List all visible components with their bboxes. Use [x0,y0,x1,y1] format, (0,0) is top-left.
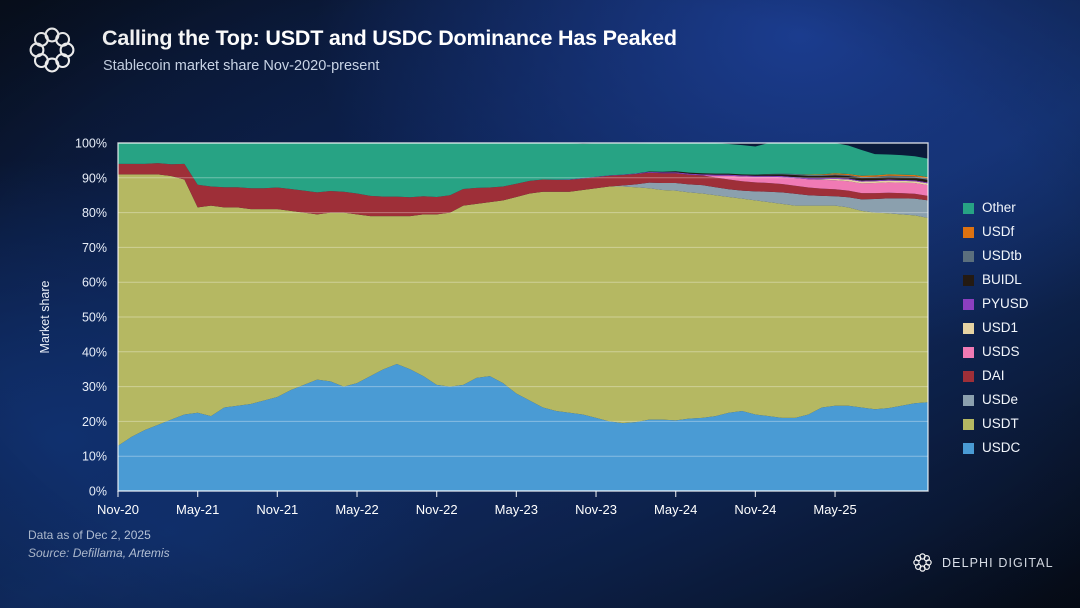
legend-item-usdc[interactable]: USDC [963,436,1075,460]
y-axis-title: Market share [38,280,52,353]
legend-swatch-icon [963,323,974,334]
x-tick-label: May-25 [813,502,856,517]
x-tick-label: Nov-20 [97,502,139,517]
legend-item-label: USDS [982,345,1020,359]
x-tick-label: May-23 [495,502,538,517]
legend-swatch-icon [963,443,974,454]
legend-item-label: BUIDL [982,273,1022,287]
y-tick-label: 60% [82,276,107,290]
y-tick-label: 0% [89,485,107,499]
x-tick-label: Nov-22 [416,502,458,517]
x-tick-label: Nov-21 [256,502,298,517]
page-subtitle: Stablecoin market share Nov-2020-present [103,58,677,74]
header-text: Calling the Top: USDT and USDC Dominance… [102,20,677,74]
chart-canvas: 0%10%20%30%40%50%60%70%80%90%100%Market … [0,118,1080,518]
delphi-knot-logo-icon [26,24,78,76]
brand-lockup: DELPHI DIGITAL [912,552,1054,573]
page-title: Calling the Top: USDT and USDC Dominance… [102,26,677,51]
legend-item-label: DAI [982,369,1005,383]
legend-item-usds[interactable]: USDS [963,340,1075,364]
legend-swatch-icon [963,347,974,358]
delphi-knot-logo-icon [912,552,933,573]
y-tick-label: 50% [82,311,107,325]
x-tick-label: May-22 [335,502,378,517]
legend-swatch-icon [963,395,974,406]
legend-item-usde[interactable]: USDe [963,388,1075,412]
header: Calling the Top: USDT and USDC Dominance… [26,20,926,90]
legend-item-dai[interactable]: DAI [963,364,1075,388]
legend-swatch-icon [963,251,974,262]
legend-item-label: USDC [982,441,1020,455]
legend-item-usdt[interactable]: USDT [963,412,1075,436]
x-tick-label: May-21 [176,502,219,517]
legend-item-label: USD1 [982,321,1018,335]
y-tick-label: 20% [82,415,107,429]
legend-swatch-icon [963,203,974,214]
y-tick-label: 70% [82,241,107,255]
source-text: Source: Defillama, Artemis [28,546,448,560]
y-tick-label: 90% [82,171,107,185]
y-tick-label: 30% [82,380,107,394]
legend-item-label: USDtb [982,249,1022,263]
legend-item-usd1[interactable]: USD1 [963,316,1075,340]
x-tick-label: Nov-24 [734,502,776,517]
legend-item-label: PYUSD [982,297,1029,311]
legend-item-pyusd[interactable]: PYUSD [963,292,1075,316]
legend-item-usdtb[interactable]: USDtb [963,244,1075,268]
legend-item-buidl[interactable]: BUIDL [963,268,1075,292]
data-as-of-text: Data as of Dec 2, 2025 [28,528,448,542]
y-axis-labels: 0%10%20%30%40%50%60%70%80%90%100% [75,137,107,499]
x-tick-label: May-24 [654,502,697,517]
legend-swatch-icon [963,299,974,310]
legend-item-other[interactable]: Other [963,196,1075,220]
legend-item-label: USDT [982,417,1019,431]
y-tick-label: 10% [82,450,107,464]
x-axis-labels: Nov-20May-21Nov-21May-22Nov-22May-23Nov-… [97,491,857,517]
legend-swatch-icon [963,275,974,286]
legend-swatch-icon [963,419,974,430]
stacked-area-chart: 0%10%20%30%40%50%60%70%80%90%100%Market … [0,118,1080,518]
footer: Data as of Dec 2, 2025 Source: Defillama… [28,528,448,560]
chart-legend: OtherUSDfUSDtbBUIDLPYUSDUSD1USDSDAIUSDeU… [963,196,1075,460]
legend-item-label: USDe [982,393,1018,407]
legend-item-label: USDf [982,225,1014,239]
legend-item-usdf[interactable]: USDf [963,220,1075,244]
y-tick-label: 80% [82,206,107,220]
y-tick-label: 40% [82,345,107,359]
x-tick-label: Nov-23 [575,502,617,517]
brand-name: DELPHI DIGITAL [942,556,1054,570]
legend-item-label: Other [982,201,1016,215]
legend-swatch-icon [963,371,974,382]
legend-swatch-icon [963,227,974,238]
y-tick-label: 100% [75,137,107,151]
